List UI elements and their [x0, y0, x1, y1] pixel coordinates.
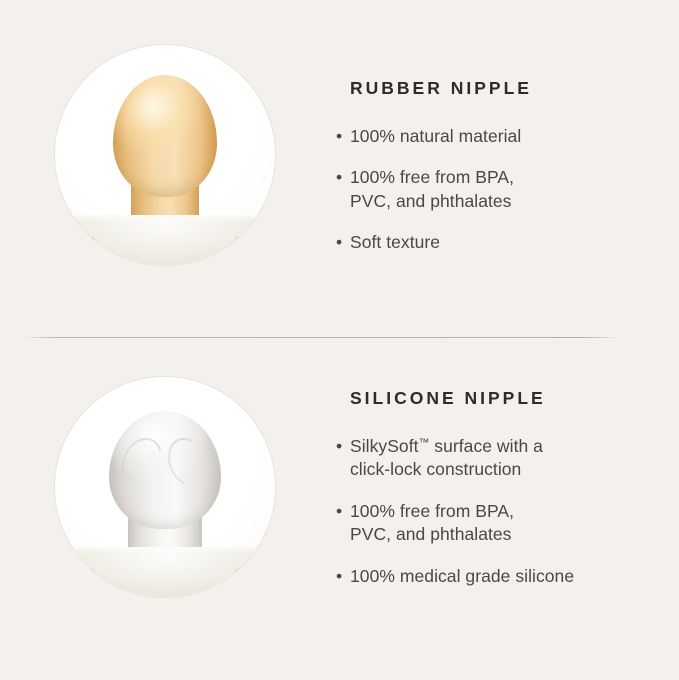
nipple-bulb	[109, 411, 221, 529]
section-divider	[26, 337, 615, 338]
bullet-marker: •	[336, 125, 342, 148]
product-scene	[55, 45, 275, 265]
product-scene	[55, 377, 275, 597]
rubber-nipple-photo	[55, 45, 275, 265]
section-rubber-nipple: RUBBER NIPPLE •100% natural material •10…	[0, 18, 679, 318]
rubber-text-block: RUBBER NIPPLE •100% natural material •10…	[335, 78, 655, 255]
pacifier-shield	[55, 215, 275, 265]
vent-hole-left	[64, 566, 95, 582]
silicone-heading: SILICONE NIPPLE	[350, 388, 655, 409]
feature-text: 100% free from BPA,PVC, and phthalates	[350, 167, 514, 210]
bullet-marker: •	[336, 435, 342, 458]
nipple-crease-right	[160, 431, 215, 492]
feature-item: •100% free from BPA,PVC, and phthalates	[335, 166, 655, 213]
feature-text: 100% free from BPA,PVC, and phthalates	[350, 501, 514, 544]
vent-hole-left	[64, 234, 95, 250]
feature-text: 100% medical grade silicone	[350, 566, 574, 586]
nipple-crease-left	[114, 431, 169, 492]
feature-item: •100% free from BPA,PVC, and phthalates	[335, 500, 655, 547]
nipple-bulb	[113, 75, 217, 197]
feature-text: 100% natural material	[350, 126, 521, 146]
pacifier-shield	[55, 547, 275, 597]
feature-text: Soft texture	[350, 232, 440, 252]
feature-text-before-trademark: SilkySoft	[350, 436, 419, 456]
rubber-heading: RUBBER NIPPLE	[350, 78, 655, 99]
section-silicone-nipple: SILICONE NIPPLE •SilkySoft™ surface with…	[0, 350, 679, 650]
bullet-marker: •	[336, 500, 342, 523]
feature-item: •100% medical grade silicone	[335, 565, 655, 588]
product-comparison-infographic: RUBBER NIPPLE •100% natural material •10…	[0, 0, 679, 680]
silicone-nipple-photo	[55, 377, 275, 597]
bullet-marker: •	[336, 231, 342, 254]
rubber-feature-list: •100% natural material •100% free from B…	[335, 125, 655, 255]
bullet-marker: •	[336, 565, 342, 588]
bullet-marker: •	[336, 166, 342, 189]
feature-item: •Soft texture	[335, 231, 655, 254]
trademark-symbol: ™	[419, 437, 430, 449]
vent-hole-right	[234, 566, 265, 582]
feature-item: •SilkySoft™ surface with aclick-lock con…	[335, 435, 655, 482]
silicone-text-block: SILICONE NIPPLE •SilkySoft™ surface with…	[335, 388, 655, 588]
feature-item: •100% natural material	[335, 125, 655, 148]
silicone-feature-list: •SilkySoft™ surface with aclick-lock con…	[335, 435, 655, 588]
vent-hole-right	[234, 234, 265, 250]
